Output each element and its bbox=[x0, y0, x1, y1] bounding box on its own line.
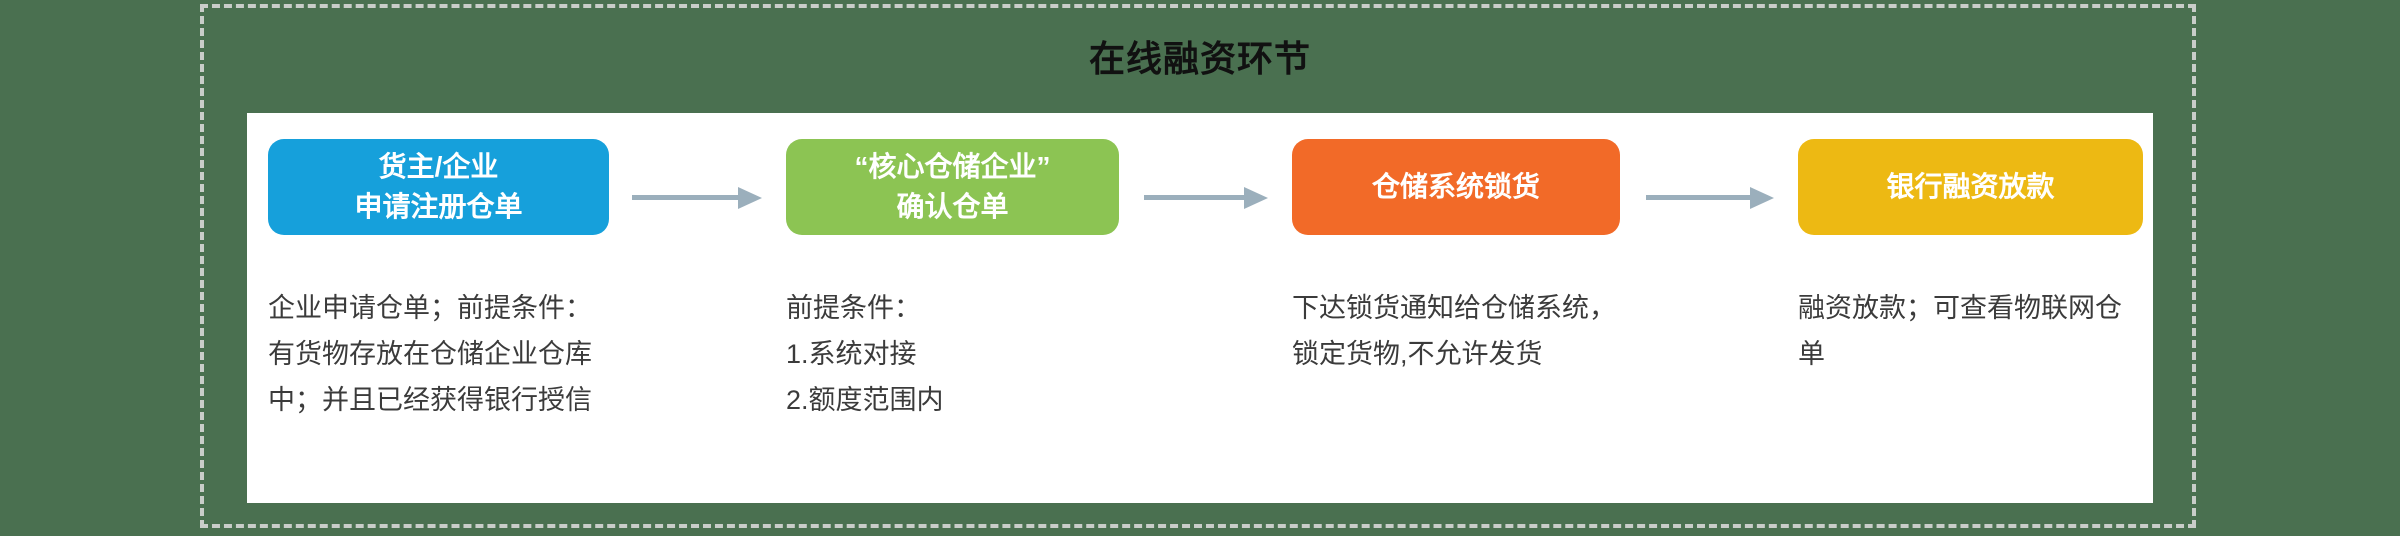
flow-node-label: 银行融资放款 bbox=[1886, 167, 2054, 207]
flow-node-bank-financing[interactable]: 银行融资放款 bbox=[1798, 139, 2143, 235]
flow-node-description: 下达锁货通知给仓储系统，锁定货物,不允许发货 bbox=[1292, 285, 1622, 377]
arrow-right-icon bbox=[1646, 187, 1774, 209]
flow-node-label: 货主/企业 申请注册仓单 bbox=[354, 147, 522, 227]
arrow-right-icon bbox=[1144, 187, 1268, 209]
arrow-right-icon bbox=[632, 187, 762, 209]
arrow-shaft bbox=[1646, 195, 1752, 200]
flow-node-description: 前提条件： 1.系统对接 2.额度范围内 bbox=[786, 285, 1116, 423]
flow-node-description: 企业申请仓单；前提条件：有货物存放在仓储企业仓库中；并且已经获得银行授信 bbox=[268, 285, 598, 423]
flow-node-label: 仓储系统锁货 bbox=[1372, 167, 1540, 207]
arrow-head bbox=[1244, 187, 1268, 209]
arrow-shaft bbox=[1144, 195, 1246, 200]
arrow-shaft bbox=[632, 195, 740, 200]
flow-node-core-warehouse-enterprise[interactable]: “核心仓储企业” 确认仓单 bbox=[786, 139, 1119, 235]
page-title: 在线融资环节 bbox=[0, 30, 2400, 82]
arrow-head bbox=[738, 187, 762, 209]
flow-node-warehouse-system-lock[interactable]: 仓储系统锁货 bbox=[1292, 139, 1620, 235]
flow-node-label: “核心仓储企业” 确认仓单 bbox=[854, 147, 1050, 227]
flow-node-description: 融资放款；可查看物联网仓单 bbox=[1798, 285, 2128, 377]
diagram-root: 在线融资环节 货主/企业 申请注册仓单 “核心仓储企业” 确认仓单 仓储系统锁货… bbox=[0, 0, 2400, 536]
flow-node-owner-enterprise[interactable]: 货主/企业 申请注册仓单 bbox=[268, 139, 609, 235]
arrow-head bbox=[1750, 187, 1774, 209]
